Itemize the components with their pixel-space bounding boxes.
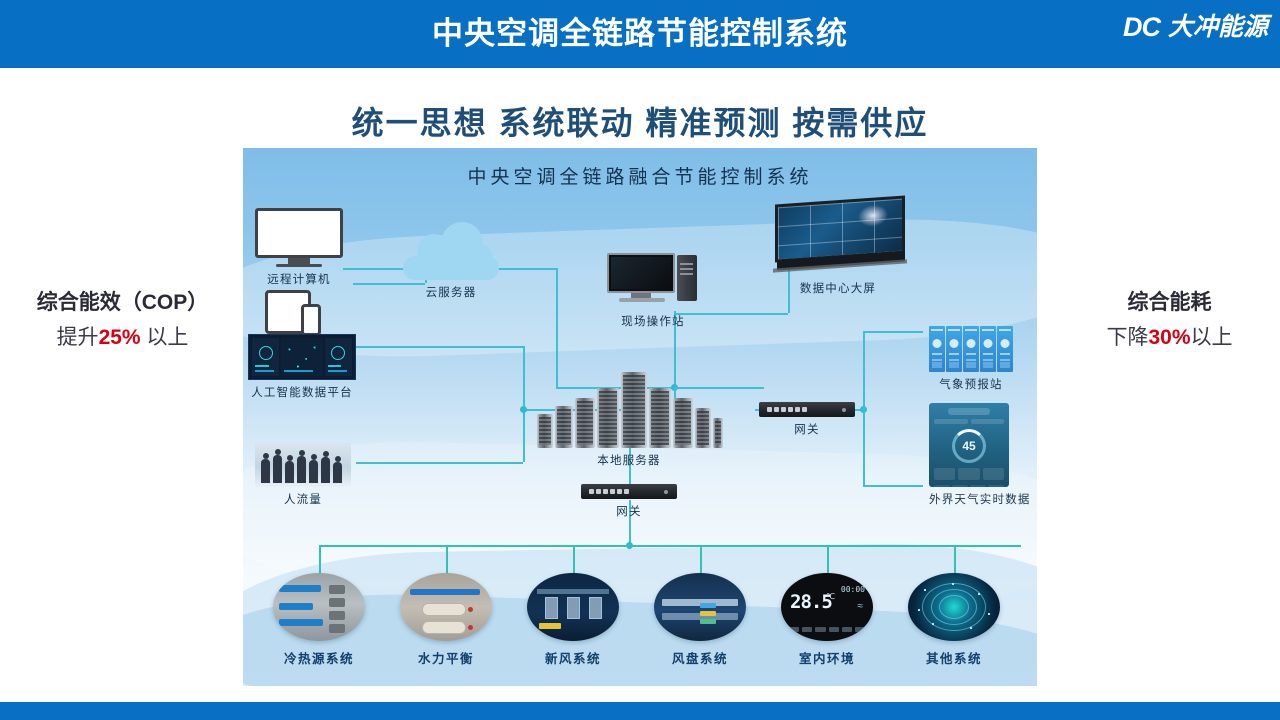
- diagram-title: 中央空调全链路融合节能控制系统: [243, 162, 1037, 189]
- node-field-workstation-label: 现场操作站: [607, 313, 699, 329]
- callout-energy-percent: 30%: [1148, 326, 1190, 349]
- forecast-cards-icon: [929, 326, 1013, 372]
- gateway-device-icon: [759, 402, 855, 417]
- connector-dot: [520, 406, 527, 413]
- node-local-server-label: 本地服务器: [535, 452, 723, 468]
- subsystem-label: 水力平衡: [400, 648, 492, 667]
- subsystem-label: 其他系统: [908, 648, 1000, 667]
- footer-bar: [0, 702, 1280, 720]
- callout-cop-percent: 25%: [99, 326, 141, 349]
- logo-mark: DC: [1123, 14, 1160, 41]
- brand-logo: DC 大冲能源: [1123, 14, 1268, 41]
- connector-line: [498, 268, 556, 270]
- callout-cop-prefix: 提升: [57, 326, 99, 349]
- connector-line: [827, 545, 829, 575]
- gateway-device-icon: [581, 484, 677, 499]
- node-weather-forecast-station-label: 气象预报站: [929, 376, 1013, 392]
- node-people-flow[interactable]: 人流量: [255, 443, 351, 507]
- node-local-server[interactable]: 本地服务器: [535, 366, 723, 468]
- cloud-icon: [403, 236, 499, 280]
- slide-root: 中央空调全链路节能控制系统 DC 大冲能源 统一思想 系统联动 精准预测 按需供…: [0, 0, 1280, 720]
- node-people-flow-label: 人流量: [255, 491, 351, 507]
- subsystem-indoor-environment[interactable]: 28.5 ℃ 00:00 ≈ 室内环境: [781, 573, 873, 667]
- callout-energy-suffix: 以上: [1191, 326, 1233, 349]
- mobile-tablet-icon: [265, 290, 333, 338]
- ai-dashboard-icon: [248, 334, 356, 380]
- node-gateway-right[interactable]: 网关: [759, 402, 855, 437]
- monitor-icon: [255, 208, 343, 267]
- subsystem-image: [908, 573, 1000, 641]
- callout-cop-suffix: 以上: [141, 326, 189, 349]
- node-weather-forecast-station[interactable]: 气象预报站: [929, 326, 1013, 392]
- subsystem-cold-heat-source[interactable]: 冷热源系统: [273, 573, 365, 667]
- connector-line: [863, 331, 923, 333]
- weather-widget-icon: 45: [929, 403, 1009, 487]
- node-field-workstation[interactable]: 现场操作站: [607, 253, 699, 329]
- subsystem-fresh-air[interactable]: 新风系统: [527, 573, 619, 667]
- callout-energy-value: 下降30%以上: [1062, 321, 1277, 351]
- node-gateway-center[interactable]: 网关: [581, 484, 677, 519]
- page-title: 中央空调全链路节能控制系统: [0, 0, 1280, 68]
- subsystem-label: 风盘系统: [654, 648, 746, 667]
- subtitle: 统一思想 系统联动 精准预测 按需供应: [0, 98, 1280, 144]
- connector-line: [700, 545, 702, 575]
- connector-line: [863, 331, 865, 409]
- weather-gauge-value: 45: [952, 429, 986, 463]
- subsystem-label: 室内环境: [781, 648, 873, 667]
- node-realtime-weather-data[interactable]: 45 外界天气实时数据: [929, 403, 1031, 507]
- logo-text: 大冲能源: [1168, 15, 1268, 40]
- node-gateway-right-label: 网关: [759, 421, 855, 437]
- connector-line: [356, 462, 523, 464]
- thermostat-unit: ℃: [826, 592, 835, 601]
- subsystem-image: [654, 573, 746, 641]
- subsystem-other[interactable]: 其他系统: [908, 573, 1000, 667]
- node-ai-data-platform-label: 人工智能数据平台: [248, 384, 356, 400]
- connector-line: [319, 545, 321, 575]
- callout-energy-prefix: 下降: [1106, 326, 1148, 349]
- callout-cop-value: 提升25% 以上: [10, 321, 235, 351]
- connector-line: [954, 545, 956, 575]
- subsystem-label: 新风系统: [527, 648, 619, 667]
- callout-energy-title: 综合能耗: [1062, 286, 1277, 316]
- node-remote-computer[interactable]: 远程计算机: [255, 208, 343, 287]
- video-wall-icon: [771, 200, 905, 272]
- connector-line: [356, 346, 523, 348]
- subsystem-image: [400, 573, 492, 641]
- connector-line: [523, 346, 525, 462]
- connector-line: [863, 485, 923, 487]
- connector-line: [446, 545, 448, 575]
- subsystem-image: 28.5 ℃ 00:00 ≈: [781, 573, 873, 641]
- node-data-center-screen-label: 数据中心大屏: [771, 280, 905, 296]
- subsystem-hydraulic-balance[interactable]: 水力平衡: [400, 573, 492, 667]
- fan-icon: ≈: [858, 601, 864, 612]
- subsystem-image: [273, 573, 365, 641]
- callout-cop-title: 综合能效（COP）: [10, 286, 235, 316]
- node-remote-computer-label: 远程计算机: [255, 271, 343, 287]
- callout-cop: 综合能效（COP） 提升25% 以上: [10, 286, 235, 351]
- subsystem-image: [527, 573, 619, 641]
- node-gateway-center-label: 网关: [581, 503, 677, 519]
- node-ai-data-platform[interactable]: 人工智能数据平台: [248, 334, 356, 400]
- header-bar: 中央空调全链路节能控制系统 DC 大冲能源: [0, 0, 1280, 68]
- subsystem-label: 冷热源系统: [273, 648, 365, 667]
- connector-line: [573, 545, 575, 575]
- server-rack-icon: [535, 366, 723, 448]
- desktop-computer-icon: [607, 253, 699, 309]
- connector-line: [863, 409, 865, 485]
- system-architecture-diagram: 中央空调全链路融合节能控制系统: [243, 148, 1037, 686]
- subsystem-fan-coil[interactable]: 风盘系统: [654, 573, 746, 667]
- people-flow-image: [255, 443, 351, 487]
- callout-energy: 综合能耗 下降30%以上: [1062, 286, 1277, 351]
- node-cloud-server[interactable]: 云服务器: [403, 236, 499, 300]
- node-data-center-screen[interactable]: 数据中心大屏: [771, 200, 905, 296]
- node-cloud-server-label: 云服务器: [403, 284, 499, 300]
- connector-bus: [321, 545, 1021, 547]
- thermostat-time: 00:00: [841, 585, 865, 594]
